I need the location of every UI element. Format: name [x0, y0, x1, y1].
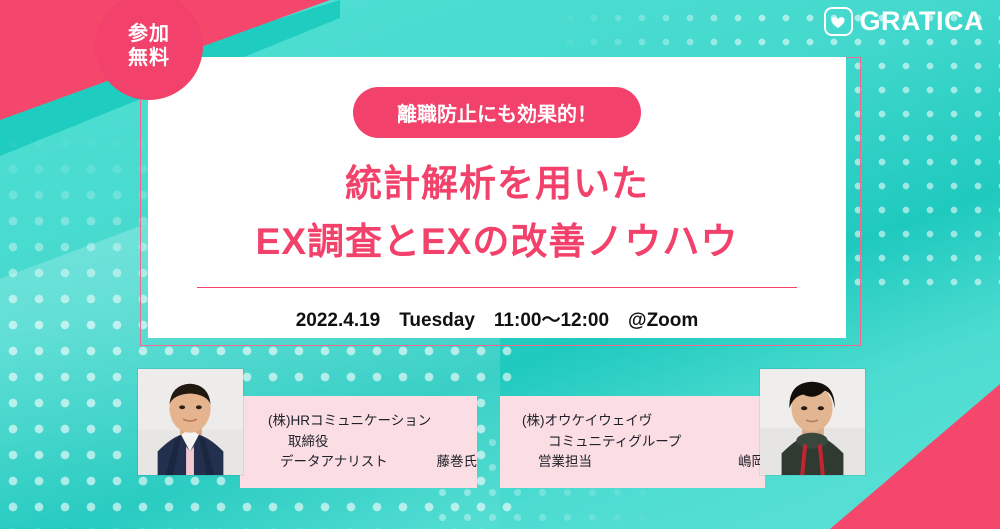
speaker-title: データアナリスト	[280, 452, 388, 473]
divider	[197, 287, 797, 288]
title-line-2: EX調査とEXの改善ノウハウ	[256, 211, 739, 265]
webinar-banner: 参加 無料 GRATICA 離職防止にも効果的！ 統計解析を用いた EX調査とE…	[0, 0, 1000, 529]
brand-logo: GRATICA	[824, 6, 985, 37]
spacer	[592, 452, 738, 473]
speaker-photo-fujimaki	[137, 368, 244, 476]
speaker-title: 営業担当	[538, 452, 592, 473]
speaker-title-row: 営業担当 嶋岡	[522, 452, 765, 473]
event-datetime: 2022.4.19 Tuesday 11:00〜12:00 @Zoom	[296, 305, 699, 332]
speaker-title-row: データアナリスト 藤巻氏	[268, 452, 477, 473]
speaker-info-right: (株)オウケイウェイヴ コミュニティグループ 営業担当 嶋岡	[500, 396, 765, 488]
speaker-info-left: (株)HRコミュニケーション 取締役 データアナリスト 藤巻氏	[240, 396, 477, 488]
speaker-photo-shimaoka	[759, 368, 866, 476]
title-line-1: 統計解析を用いた	[345, 153, 649, 207]
main-card: 離職防止にも効果的！ 統計解析を用いた EX調査とEXの改善ノウハウ 2022.…	[148, 57, 846, 338]
badge-line-2: 無料	[128, 46, 170, 70]
speaker-role: コミュニティグループ	[522, 432, 765, 453]
brand-logo-text: GRATICA	[860, 6, 985, 37]
speaker-role: 取締役	[268, 432, 477, 453]
badge-line-1: 参加	[128, 22, 170, 46]
heart-icon	[824, 7, 853, 36]
speaker-company: (株)HRコミュニケーション	[268, 411, 477, 432]
speaker-company: (株)オウケイウェイヴ	[522, 411, 765, 432]
speaker-name: 藤巻氏	[437, 452, 478, 473]
highlight-pill: 離職防止にも効果的！	[353, 87, 641, 138]
spacer	[388, 452, 437, 473]
